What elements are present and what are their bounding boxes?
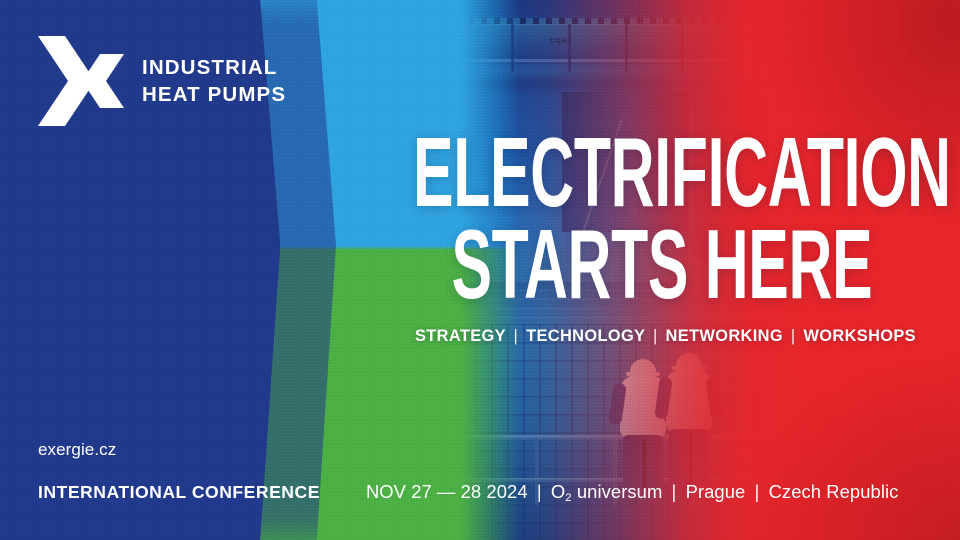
x-chevron-logo-icon bbox=[38, 36, 124, 126]
event-type-label: INTERNATIONAL CONFERENCE bbox=[38, 482, 320, 503]
venue-name: O2 universum bbox=[551, 481, 663, 502]
footer-row: INTERNATIONAL CONFERENCE NOV 27 — 28 202… bbox=[38, 481, 930, 503]
detail-separator: | bbox=[751, 481, 764, 502]
topics-subtitle: STRATEGY | TECHNOLOGY | NETWORKING | WOR… bbox=[415, 327, 916, 346]
topic-separator: | bbox=[650, 327, 661, 345]
event-country: Czech Republic bbox=[769, 481, 899, 502]
brand-name-line-2: HEAT PUMPS bbox=[142, 81, 286, 108]
topic-strategy: STRATEGY bbox=[415, 327, 506, 345]
headline-line-2: STARTS HERE bbox=[413, 220, 723, 308]
venue-subscript: 2 bbox=[565, 492, 571, 504]
headline-line-1: ELECTRIFICATION bbox=[413, 128, 723, 216]
topic-workshops: WORKSHOPS bbox=[803, 327, 916, 345]
headline-block: ELECTRIFICATION STARTS HERE bbox=[413, 128, 913, 308]
event-city: Prague bbox=[686, 481, 746, 502]
event-date: NOV 27 — 28 2024 bbox=[366, 481, 528, 502]
topic-separator: | bbox=[511, 327, 522, 345]
topic-technology: TECHNOLOGY bbox=[526, 327, 645, 345]
website-link[interactable]: exergie.cz bbox=[38, 440, 116, 460]
event-details: NOV 27 — 28 2024 | O2 universum | Prague… bbox=[366, 481, 898, 503]
brand-name-line-1: INDUSTRIAL bbox=[142, 54, 286, 81]
conference-promo-banner: cqat bbox=[0, 0, 960, 540]
detail-separator: | bbox=[668, 481, 681, 502]
brand-name: INDUSTRIAL HEAT PUMPS bbox=[142, 54, 286, 108]
topic-networking: NETWORKING bbox=[666, 327, 783, 345]
brand-logo-lockup[interactable]: INDUSTRIAL HEAT PUMPS bbox=[38, 36, 286, 126]
venue-rest: universum bbox=[572, 481, 663, 502]
topic-separator: | bbox=[788, 327, 799, 345]
detail-separator: | bbox=[533, 481, 546, 502]
banner-content: INDUSTRIAL HEAT PUMPS ELECTRIFICATION ST… bbox=[0, 0, 960, 540]
venue-o: O bbox=[551, 481, 565, 502]
